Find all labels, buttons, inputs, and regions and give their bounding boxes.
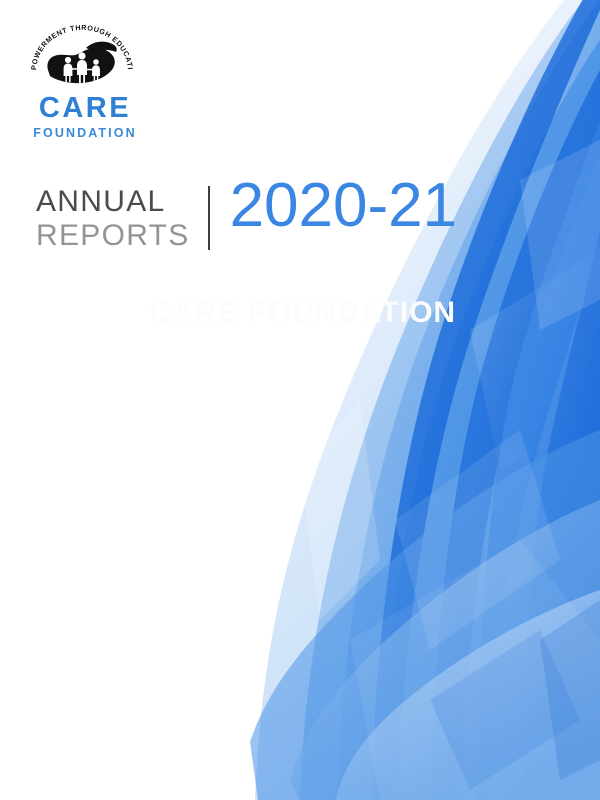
logo-wordmark: CARE FOUNDATION bbox=[22, 94, 148, 140]
hand-sheltering-family-icon: EMPOWERMENT THROUGH EDUCATION bbox=[26, 24, 138, 96]
report-cover-page: EMPOWERMENT THROUGH EDUCATION CARE FOUND… bbox=[0, 0, 600, 800]
ribbon-layer-lower-sweep bbox=[250, 430, 600, 800]
title-line-reports: REPORTS bbox=[36, 219, 190, 253]
ribbon-layer-back bbox=[255, 0, 600, 800]
ribbon-layer-front bbox=[372, 0, 600, 800]
title-line-annual: ANNUAL bbox=[36, 185, 190, 219]
logo-name-primary: CARE bbox=[22, 94, 148, 123]
cover-title-text: ANNUAL REPORTS bbox=[36, 183, 208, 253]
background-watermark: CARE FOUNDATION bbox=[150, 296, 456, 330]
cover-title-block: ANNUAL REPORTS 2020-21 bbox=[36, 183, 457, 253]
logo-name-secondary: FOUNDATION bbox=[22, 127, 148, 140]
ribbon-layer-mid bbox=[338, 0, 600, 800]
title-year: 2020-21 bbox=[210, 173, 458, 239]
care-foundation-logo: EMPOWERMENT THROUGH EDUCATION CARE FOUND… bbox=[22, 24, 148, 128]
